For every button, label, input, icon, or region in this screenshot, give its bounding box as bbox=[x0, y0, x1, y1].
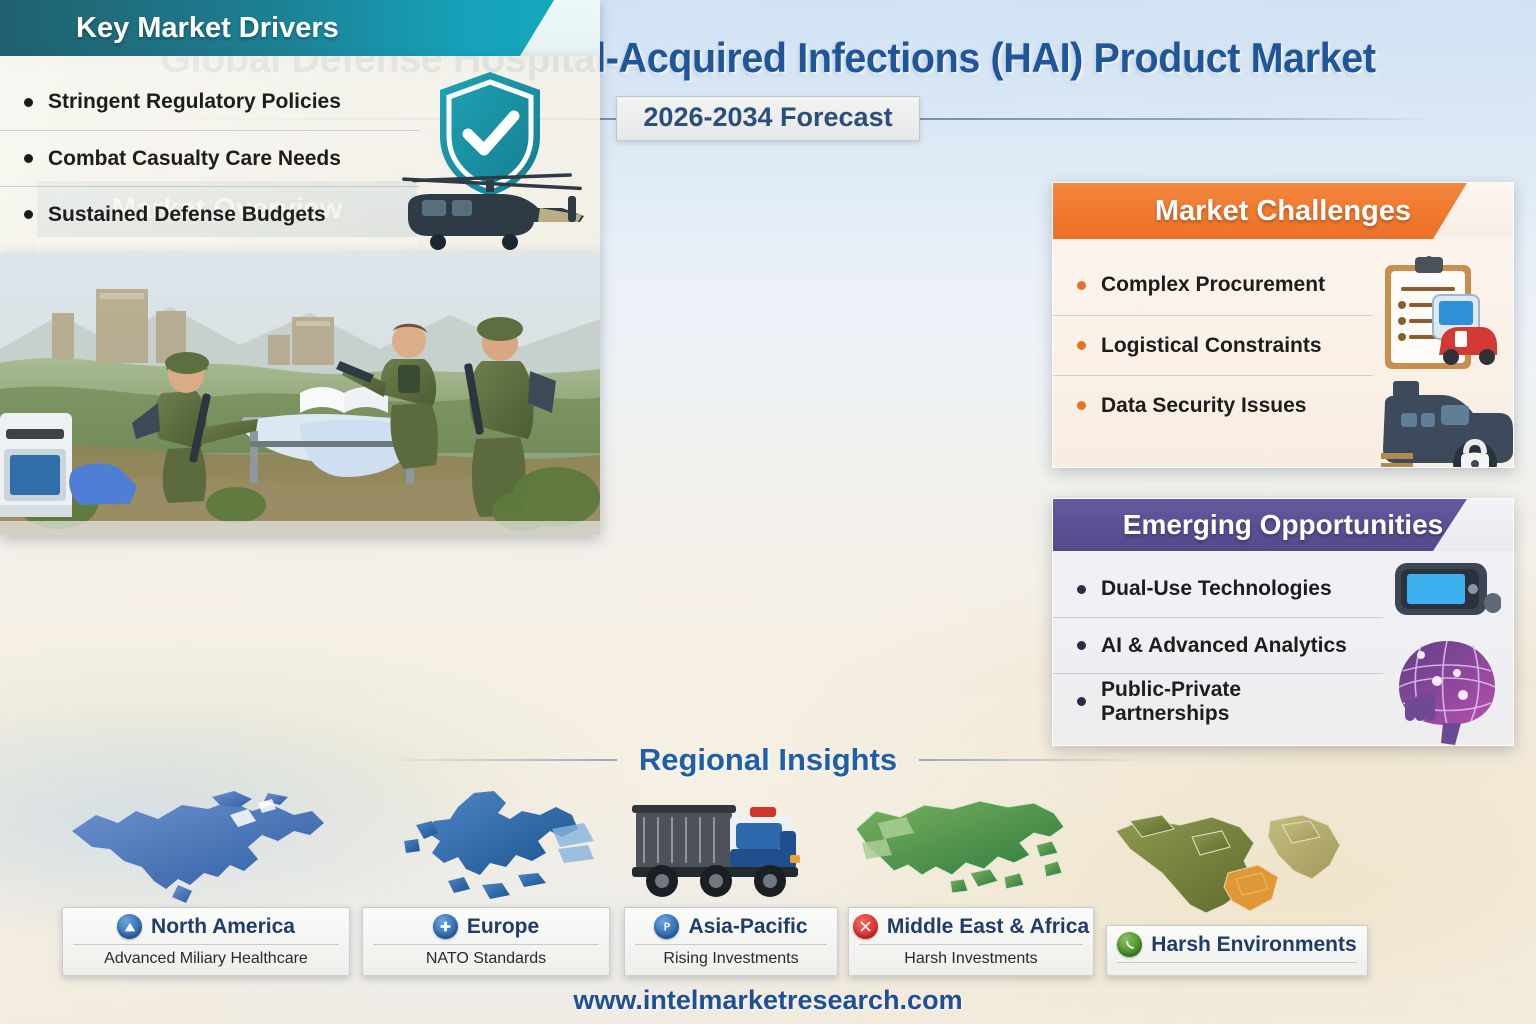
list-item: Public-Private Partnerships bbox=[1053, 673, 1383, 729]
region-subtitle: Rising Investments bbox=[635, 944, 827, 968]
driver-label: Stringent Regulatory Policies bbox=[48, 90, 341, 114]
north-america-map bbox=[62, 789, 350, 907]
region-label-box: Middle East & Africa Harsh Investments bbox=[848, 907, 1094, 976]
list-item: Dual-Use Technologies bbox=[1053, 561, 1383, 617]
regional-insights-title: Regional Insights bbox=[617, 742, 919, 778]
list-item: Combat Casualty Care Needs bbox=[0, 130, 420, 186]
bullet-dot-icon bbox=[1077, 697, 1086, 706]
region-name-row: Asia-Pacific bbox=[635, 914, 827, 939]
crossed-swords-badge-icon bbox=[853, 914, 878, 939]
bullet-dot-icon bbox=[24, 154, 33, 163]
region-subtitle: NATO Standards bbox=[373, 944, 599, 968]
list-item: AI & Advanced Analytics bbox=[1053, 617, 1383, 673]
region-name-row: North America bbox=[73, 914, 339, 939]
region-card-asia-pacific[interactable]: Asia-Pacific Rising Investments bbox=[624, 789, 838, 976]
list-item: Data Security Issues bbox=[1053, 375, 1373, 435]
region-card-north-america[interactable]: North America Advanced Miliary Healthcar… bbox=[62, 789, 350, 976]
bullet-dot-icon bbox=[1077, 341, 1086, 350]
africa-map-olive bbox=[1106, 807, 1368, 925]
market-challenges-header: Market Challenges bbox=[1053, 183, 1513, 239]
region-subtitle: Harsh Investments bbox=[859, 944, 1083, 968]
asia-map-green bbox=[848, 789, 1094, 907]
market-challenges-header-label: Market Challenges bbox=[1155, 195, 1411, 228]
header-notch bbox=[520, 0, 600, 56]
list-item: Complex Procurement bbox=[1053, 255, 1373, 315]
market-challenges-panel: Market Challenges Complex Procurement Lo… bbox=[1052, 182, 1514, 468]
emerging-opportunities-header: Emerging Opportunities bbox=[1053, 499, 1513, 551]
region-label-box: Harsh Environments bbox=[1106, 925, 1368, 976]
forecast-period-badge: 2026-2034 Forecast bbox=[616, 96, 919, 141]
challenge-label: Complex Procurement bbox=[1101, 273, 1325, 297]
region-name-row: Europe bbox=[373, 914, 599, 939]
bullet-dot-icon bbox=[1077, 641, 1086, 650]
region-name-row: Middle East & Africa bbox=[859, 914, 1083, 939]
region-card-europe[interactable]: Europe NATO Standards bbox=[362, 789, 610, 976]
opportunity-label: Dual-Use Technologies bbox=[1101, 577, 1332, 601]
footer-website-url[interactable]: www.intelmarketresearch.com bbox=[0, 985, 1536, 1016]
key-market-drivers-panel: Key Market Drivers Stringent Regulatory … bbox=[0, 0, 600, 540]
emerging-opportunities-header-label: Emerging Opportunities bbox=[1123, 509, 1443, 541]
phone-badge-icon bbox=[1117, 932, 1142, 957]
ai-brain-network-icon bbox=[1391, 637, 1503, 746]
region-name-row: Harsh Environments bbox=[1117, 932, 1357, 957]
driver-label: Sustained Defense Budgets bbox=[48, 203, 326, 227]
clipboard-checklist-icon bbox=[1371, 255, 1503, 373]
list-item: Stringent Regulatory Policies bbox=[0, 74, 420, 130]
bullet-dot-icon bbox=[1077, 281, 1086, 290]
tent-badge-icon bbox=[117, 914, 142, 939]
challenge-label: Data Security Issues bbox=[1101, 394, 1306, 418]
europe-map bbox=[362, 789, 610, 907]
opportunity-label: AI & Advanced Analytics bbox=[1101, 634, 1347, 658]
key-market-drivers-header-label: Key Market Drivers bbox=[76, 12, 339, 45]
region-name: Harsh Environments bbox=[1151, 933, 1356, 957]
region-name: Middle East & Africa bbox=[887, 915, 1089, 939]
region-name: Europe bbox=[467, 915, 539, 939]
key-market-drivers-header: Key Market Drivers bbox=[0, 0, 600, 56]
armored-vehicle-lock-icon bbox=[1379, 379, 1514, 468]
region-label-box: North America Advanced Miliary Healthcar… bbox=[62, 907, 350, 976]
emerging-opportunities-panel: Emerging Opportunities Dual-Use Technolo… bbox=[1052, 498, 1514, 746]
bullet-dot-icon bbox=[24, 210, 33, 219]
bullet-dot-icon bbox=[24, 98, 33, 107]
bullet-dot-icon bbox=[1077, 401, 1086, 410]
regional-rule-left bbox=[385, 759, 617, 761]
list-item: Sustained Defense Budgets bbox=[0, 186, 420, 242]
header-notch bbox=[1433, 183, 1513, 239]
region-label-box: Asia-Pacific Rising Investments bbox=[624, 907, 838, 976]
key-market-drivers-body: Stringent Regulatory Policies Combat Cas… bbox=[0, 56, 600, 254]
list-item: Logistical Constraints bbox=[1053, 315, 1373, 375]
driver-label: Combat Casualty Care Needs bbox=[48, 147, 341, 171]
handheld-device-icon bbox=[1393, 557, 1501, 621]
region-subtitle bbox=[1117, 962, 1357, 968]
bullet-dot-icon bbox=[1077, 585, 1086, 594]
opportunity-label: Public-Private Partnerships bbox=[1101, 678, 1359, 726]
regional-rule-right bbox=[919, 759, 1151, 761]
region-label-box: Europe NATO Standards bbox=[362, 907, 610, 976]
market-challenges-body: Complex Procurement Logistical Constrain… bbox=[1053, 239, 1513, 468]
emerging-opportunities-body: Dual-Use Technologies AI & Advanced Anal… bbox=[1053, 551, 1513, 746]
regional-insights-title-bar: Regional Insights bbox=[0, 742, 1536, 778]
challenge-label: Logistical Constraints bbox=[1101, 334, 1322, 358]
asia-pacific-truck bbox=[624, 789, 838, 907]
military-field-hospital-photo bbox=[0, 253, 600, 535]
region-card-middle-east-africa[interactable]: Middle East & Africa Harsh Investments bbox=[848, 789, 1094, 976]
region-name: Asia-Pacific bbox=[688, 915, 807, 939]
region-subtitle: Advanced Miliary Healthcare bbox=[73, 944, 339, 968]
region-name: North America bbox=[151, 915, 295, 939]
helicopter-icon bbox=[392, 160, 592, 252]
header-notch bbox=[1433, 499, 1513, 551]
region-card-harsh-environments[interactable]: Harsh Environments bbox=[1106, 807, 1368, 976]
pin-badge-icon bbox=[654, 914, 679, 939]
medical-cross-badge-icon bbox=[433, 914, 458, 939]
